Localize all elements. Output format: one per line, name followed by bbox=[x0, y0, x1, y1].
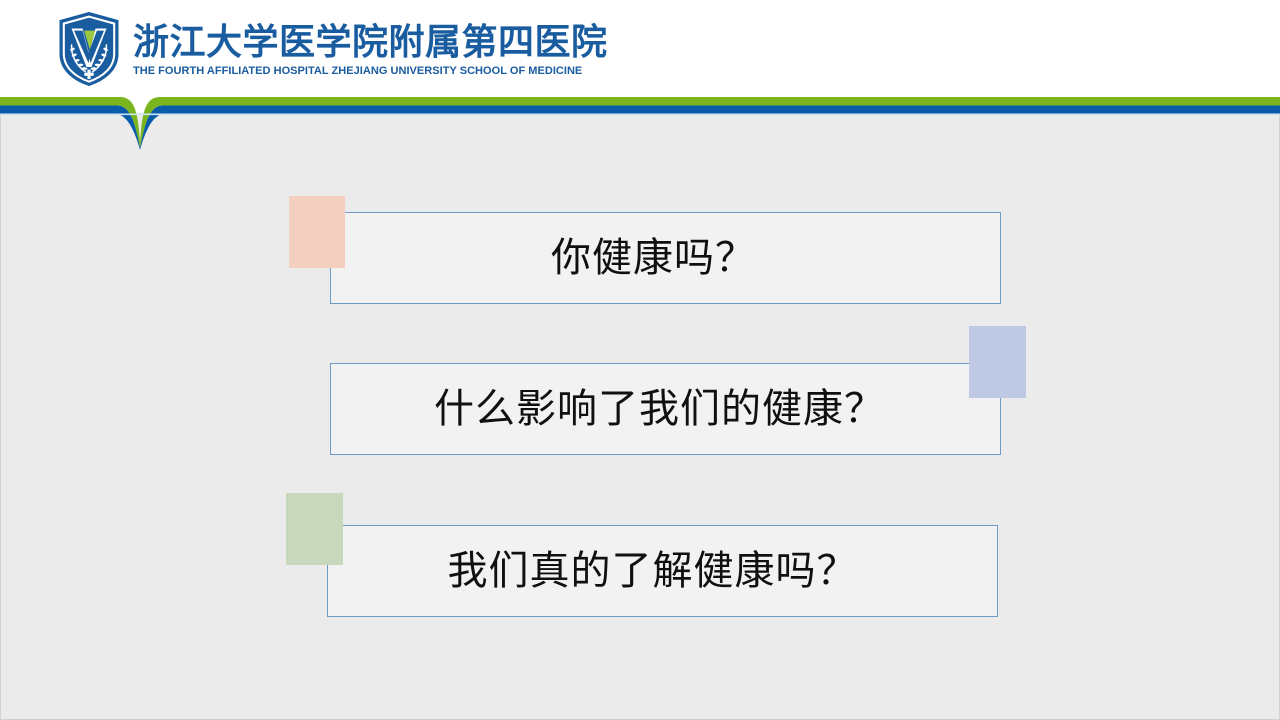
hospital-logo-lockup: 浙江大学医学院附属第四医院 THE FOURTH AFFILIATED HOSP… bbox=[58, 11, 608, 87]
question-box-3[interactable]: 我们真的了解健康吗？ bbox=[327, 525, 998, 617]
question-text-1: 你健康吗？ bbox=[551, 235, 756, 281]
question-box-1[interactable]: 你健康吗？ bbox=[330, 212, 1001, 304]
presentation-slide: 浙江大学医学院附属第四医院 THE FOURTH AFFILIATED HOSP… bbox=[0, 0, 1280, 720]
hospital-wordmark: 浙江大学医学院附属第四医院 THE FOURTH AFFILIATED HOSP… bbox=[133, 21, 608, 77]
hospital-name-en: THE FOURTH AFFILIATED HOSPITAL ZHEJIANG … bbox=[133, 65, 600, 77]
accent-square-2 bbox=[969, 326, 1026, 398]
accent-square-3 bbox=[286, 493, 343, 565]
accent-square-1 bbox=[289, 196, 345, 268]
question-text-3: 我们真的了解健康吗？ bbox=[448, 548, 858, 594]
slide-header: 浙江大学医学院附属第四医院 THE FOURTH AFFILIATED HOSP… bbox=[0, 0, 1280, 97]
hospital-name-cn: 浙江大学医学院附属第四医院 bbox=[133, 24, 608, 63]
question-box-2[interactable]: 什么影响了我们的健康？ bbox=[330, 363, 1001, 455]
hospital-shield-logo bbox=[58, 11, 120, 87]
question-text-2: 什么影响了我们的健康？ bbox=[434, 386, 885, 432]
